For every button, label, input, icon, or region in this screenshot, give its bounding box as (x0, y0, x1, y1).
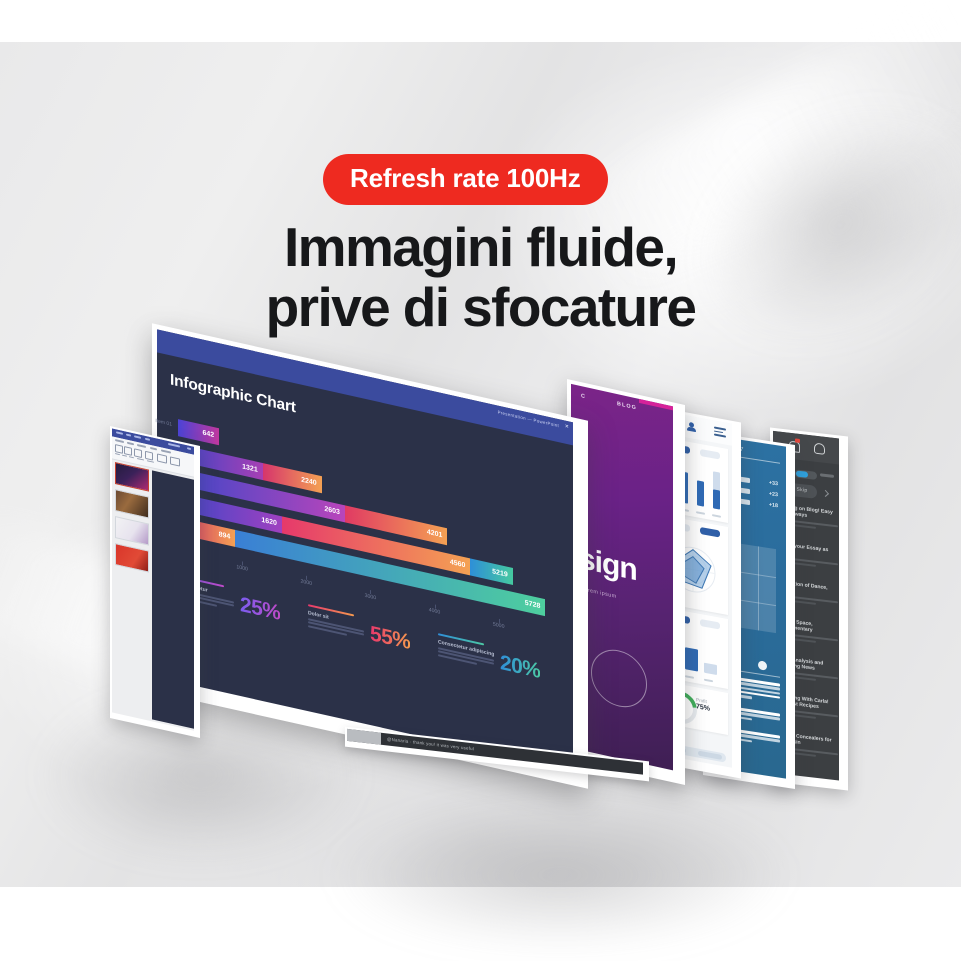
stat-value: +23 (769, 491, 778, 498)
titlebar-text: Presentation — PowerPoint (498, 410, 559, 429)
screen-fan: Skip Writing on Blog! Easy quick waysWri… (0, 0, 961, 961)
chart-bar-segment: 5219 (470, 558, 512, 584)
profit-value: 75% (696, 703, 710, 713)
axis-tick-label (696, 511, 705, 515)
stat-body (308, 618, 364, 641)
settings-toggle[interactable] (795, 469, 817, 480)
chevron-right-icon[interactable] (822, 490, 829, 497)
user-icon[interactable] (687, 422, 696, 433)
stat-percent: 55% (370, 622, 410, 655)
menu-icon[interactable] (714, 426, 726, 437)
axis-tick-label: 3000 (365, 593, 377, 602)
bar (697, 480, 704, 506)
nav-item-blog[interactable]: BLOG (617, 401, 637, 411)
screen-infographic[interactable]: Presentation — PowerPoint ✕ Infographic … (152, 323, 588, 788)
axis-tick-label (704, 679, 713, 683)
avatar (347, 729, 381, 745)
bar (704, 663, 717, 675)
notification-badge (795, 438, 800, 443)
slide-thumbnail[interactable] (115, 516, 149, 546)
screen-powerpoint-app[interactable] (110, 426, 200, 738)
accent-bar (639, 399, 673, 410)
close-icon[interactable]: ✕ (565, 424, 569, 431)
axis-tick-label: 2000 (300, 578, 312, 587)
slide-thumbnail[interactable] (115, 489, 149, 519)
bar (713, 489, 720, 510)
axis-tick-label: 5000 (493, 621, 505, 630)
axis-tick-label (712, 514, 721, 518)
nav-item-logo[interactable]: C (581, 393, 586, 400)
bar (685, 647, 698, 671)
slide-canvas[interactable] (152, 470, 194, 728)
powerpoint-viewport (112, 428, 194, 730)
decorative-dot (758, 660, 767, 670)
slide-thumbnail-panel[interactable] (115, 462, 149, 578)
stat-value: +33 (769, 480, 778, 487)
bell-icon[interactable] (814, 443, 825, 455)
slide-thumbnail[interactable] (115, 543, 149, 573)
stat-percent: 25% (240, 593, 280, 626)
axis-tick-label: 4000 (429, 607, 441, 616)
stat-value: +18 (769, 502, 778, 509)
axis-tick-label: 1000 (236, 564, 248, 573)
promo-banner: Refresh rate 100Hz Immagini fluide, priv… (0, 0, 961, 961)
decorative-circle (591, 644, 647, 712)
axis-tick-label (685, 675, 694, 679)
toggle-label (820, 473, 834, 478)
stat-percent: 20% (500, 651, 540, 684)
